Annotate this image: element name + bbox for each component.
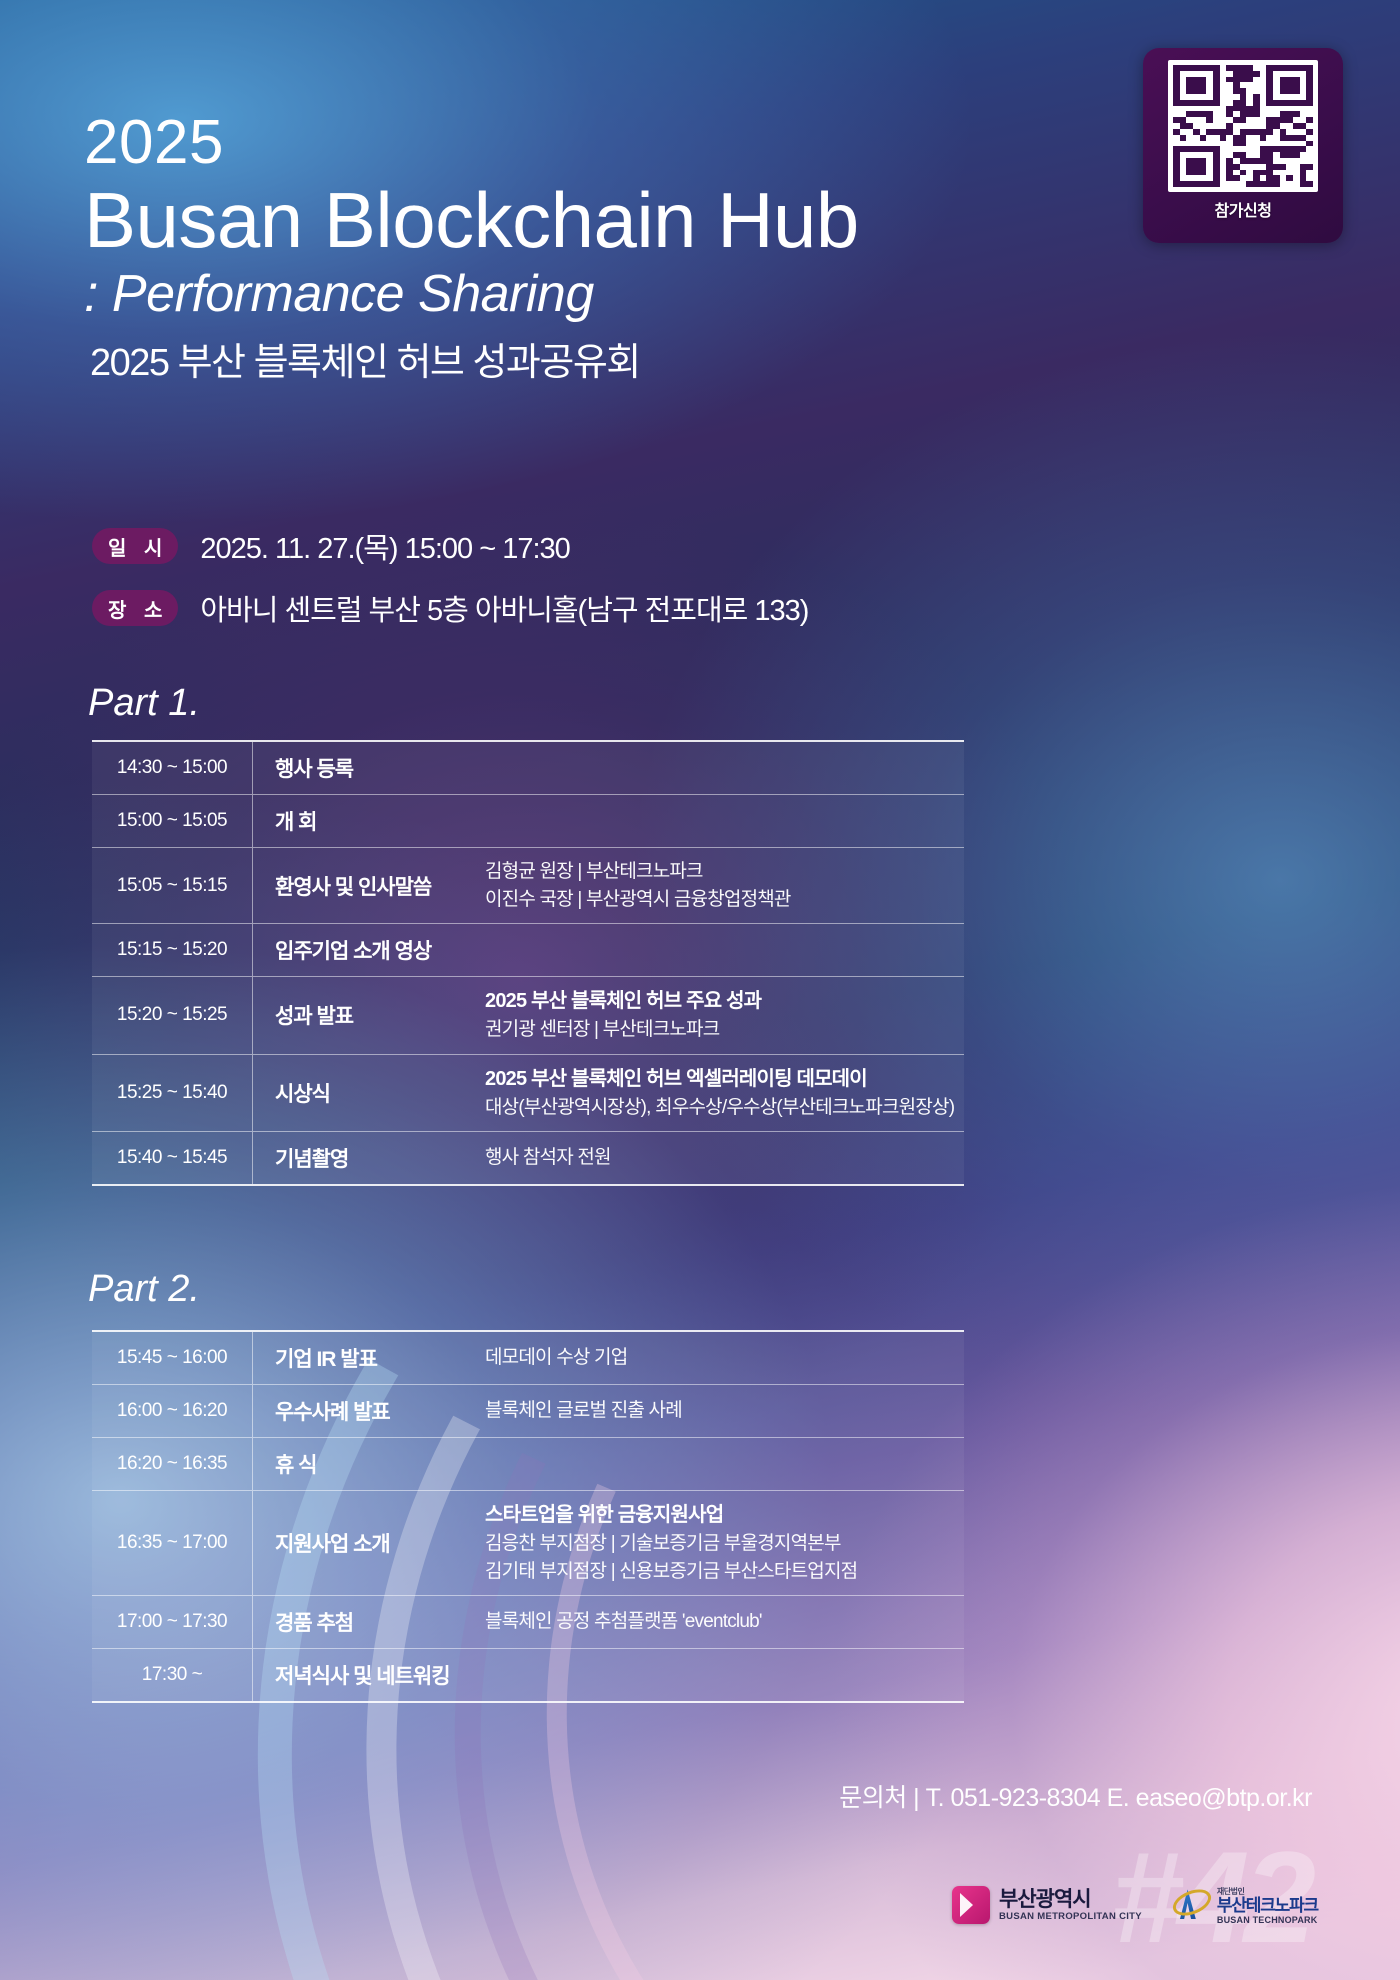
row-title: 환영사 및 인사말씀 <box>275 871 485 901</box>
row-title: 지원사업 소개 <box>275 1528 485 1558</box>
busan-city-logo: 부산광역시 BUSAN METROPOLITAN CITY <box>952 1886 1142 1924</box>
row-detail-line: 김기태 부지점장 | 신용보증기금 부산스타트업지점 <box>485 1558 964 1586</box>
table-row: 15:25 ~ 15:40시상식2025 부산 블록체인 허브 엑셀러레이팅 데… <box>92 1055 964 1133</box>
row-title: 행사 등록 <box>275 753 485 783</box>
row-detail-bold: 2025 부산 블록체인 허브 엑셀러레이팅 데모데이 <box>485 1065 964 1094</box>
row-time: 16:00 ~ 16:20 <box>92 1385 253 1437</box>
info-row-datetime: 일 시 2025. 11. 27.(목) 15:00 ~ 17:30 <box>92 525 1072 567</box>
row-detail-line: 행사 참석자 전원 <box>485 1144 964 1172</box>
row-detail-line: 대상(부산광역시장상), 최우수상/우수상(부산테크노파크원장상) <box>485 1094 964 1122</box>
row-title: 시상식 <box>275 1078 485 1108</box>
row-time: 15:05 ~ 15:15 <box>92 848 253 923</box>
page-title: Busan Blockchain Hub <box>84 180 1034 262</box>
row-title: 휴 식 <box>275 1449 485 1479</box>
row-body: 기념촬영행사 참석자 전원 <box>253 1132 964 1184</box>
row-time: 15:40 ~ 15:45 <box>92 1132 253 1184</box>
row-body: 우수사례 발표블록체인 글로벌 진출 사례 <box>253 1385 964 1437</box>
row-detail-bold: 2025 부산 블록체인 허브 주요 성과 <box>485 987 964 1016</box>
btp-name-en: BUSAN TECHNOPARK <box>1217 1915 1318 1925</box>
table-row: 15:20 ~ 15:25성과 발표2025 부산 블록체인 허브 주요 성과권… <box>92 977 964 1055</box>
row-time: 15:45 ~ 16:00 <box>92 1332 253 1384</box>
row-body: 환영사 및 인사말씀김형균 원장 | 부산테크노파크이진수 국장 | 부산광역시… <box>253 848 964 923</box>
row-detail: 김형균 원장 | 부산테크노파크이진수 국장 | 부산광역시 금융창업정책관 <box>485 858 964 913</box>
row-detail-line: 블록체인 글로벌 진출 사례 <box>485 1397 964 1425</box>
subtitle-english: : Performance Sharing <box>84 266 1034 323</box>
row-time: 15:20 ~ 15:25 <box>92 977 253 1054</box>
row-detail-line: 데모데이 수상 기업 <box>485 1344 964 1372</box>
row-body: 성과 발표2025 부산 블록체인 허브 주요 성과권기광 센터장 | 부산테크… <box>253 977 964 1054</box>
row-detail: 블록체인 공정 추첨플랫폼 'eventclub' <box>485 1608 964 1636</box>
row-detail: 2025 부산 블록체인 허브 주요 성과권기광 센터장 | 부산테크노파크 <box>485 987 964 1044</box>
schedule-table-part2: 15:45 ~ 16:00기업 IR 발표데모데이 수상 기업16:00 ~ 1… <box>92 1330 964 1703</box>
header-year: 2025 <box>84 112 1034 174</box>
row-title: 경품 추첨 <box>275 1607 485 1637</box>
row-detail-line: 이진수 국장 | 부산광역시 금융창업정책관 <box>485 886 964 914</box>
row-detail-bold: 스타트업을 위한 금융지원사업 <box>485 1501 964 1530</box>
row-body: 기업 IR 발표데모데이 수상 기업 <box>253 1332 964 1384</box>
row-title: 기업 IR 발표 <box>275 1343 485 1373</box>
row-detail: 행사 참석자 전원 <box>485 1144 964 1172</box>
row-detail-line: 블록체인 공정 추첨플랫폼 'eventclub' <box>485 1608 964 1636</box>
row-time: 14:30 ~ 15:00 <box>92 742 253 794</box>
row-body: 휴 식 <box>253 1438 964 1490</box>
row-detail: 스타트업을 위한 금융지원사업김응찬 부지점장 | 기술보증기금 부울경지역본부… <box>485 1501 964 1585</box>
row-detail: 데모데이 수상 기업 <box>485 1344 964 1372</box>
busan-technopark-logo: 재단법인 부산테크노파크 BUSAN TECHNOPARK <box>1168 1886 1318 1925</box>
part1-heading: Part 1. <box>88 682 200 725</box>
row-time: 15:15 ~ 15:20 <box>92 924 253 976</box>
table-row: 15:45 ~ 16:00기업 IR 발표데모데이 수상 기업 <box>92 1332 964 1385</box>
row-body: 행사 등록 <box>253 742 964 794</box>
row-title: 성과 발표 <box>275 1000 485 1030</box>
row-time: 16:20 ~ 16:35 <box>92 1438 253 1490</box>
row-time: 16:35 ~ 17:00 <box>92 1491 253 1595</box>
sponsor-logos: 부산광역시 BUSAN METROPOLITAN CITY 재단법인 부산테크노… <box>952 1886 1318 1925</box>
poster-header: 2025 Busan Blockchain Hub : Performance … <box>84 112 1034 387</box>
row-body: 경품 추첨블록체인 공정 추첨플랫폼 'eventclub' <box>253 1596 964 1648</box>
busan-technopark-logo-icon <box>1168 1888 1208 1922</box>
table-row: 14:30 ~ 15:00행사 등록 <box>92 742 964 795</box>
row-body: 지원사업 소개스타트업을 위한 금융지원사업김응찬 부지점장 | 기술보증기금 … <box>253 1491 964 1595</box>
row-time: 15:00 ~ 15:05 <box>92 795 253 847</box>
table-row: 15:40 ~ 15:45기념촬영행사 참석자 전원 <box>92 1132 964 1186</box>
table-row: 15:05 ~ 15:15환영사 및 인사말씀김형균 원장 | 부산테크노파크이… <box>92 848 964 924</box>
schedule-table-part1: 14:30 ~ 15:00행사 등록15:00 ~ 15:05개 회15:05 … <box>92 740 964 1186</box>
busan-city-name-en: BUSAN METROPOLITAN CITY <box>999 1911 1142 1922</box>
row-title: 개 회 <box>275 806 485 836</box>
qr-registration-panel[interactable]: 참가신청 <box>1143 48 1343 243</box>
info-chip-datetime: 일 시 <box>92 528 178 564</box>
info-text-venue: 아바니 센트럴 부산 5층 아바니홀(남구 전포대로 133) <box>200 587 808 629</box>
busan-city-logo-icon <box>952 1886 990 1924</box>
row-title: 입주기업 소개 영상 <box>275 935 485 965</box>
btp-name-ko: 부산테크노파크 <box>1217 1897 1318 1915</box>
table-row: 15:15 ~ 15:20입주기업 소개 영상 <box>92 924 964 977</box>
row-detail-line: 권기광 센터장 | 부산테크노파크 <box>485 1016 964 1044</box>
row-detail: 블록체인 글로벌 진출 사례 <box>485 1397 964 1425</box>
row-body: 시상식2025 부산 블록체인 허브 엑셀러레이팅 데모데이대상(부산광역시장상… <box>253 1055 964 1132</box>
row-body: 저녁식사 및 네트워킹 <box>253 1649 964 1701</box>
row-detail-line: 김형균 원장 | 부산테크노파크 <box>485 858 964 886</box>
row-title: 기념촬영 <box>275 1143 485 1173</box>
info-chip-venue: 장 소 <box>92 590 178 626</box>
part2-heading: Part 2. <box>88 1268 200 1311</box>
busan-city-name-ko: 부산광역시 <box>999 1889 1142 1911</box>
row-detail: 2025 부산 블록체인 허브 엑셀러레이팅 데모데이대상(부산광역시장상), … <box>485 1065 964 1122</box>
event-info-block: 일 시 2025. 11. 27.(목) 15:00 ~ 17:30 장 소 아… <box>92 525 1072 649</box>
qr-label: 참가신청 <box>1215 197 1272 221</box>
table-row: 16:00 ~ 16:20우수사례 발표블록체인 글로벌 진출 사례 <box>92 1385 964 1438</box>
table-row: 15:00 ~ 15:05개 회 <box>92 795 964 848</box>
row-title: 저녁식사 및 네트워킹 <box>275 1660 485 1690</box>
info-text-datetime: 2025. 11. 27.(목) 15:00 ~ 17:30 <box>200 525 569 567</box>
table-row: 17:00 ~ 17:30경품 추첨블록체인 공정 추첨플랫폼 'eventcl… <box>92 1596 964 1649</box>
qr-code-icon[interactable] <box>1168 60 1318 192</box>
poster-root: 참가신청 2025 Busan Blockchain Hub : Perform… <box>0 0 1400 1980</box>
row-time: 17:00 ~ 17:30 <box>92 1596 253 1648</box>
row-time: 17:30 ~ <box>92 1649 253 1701</box>
row-time: 15:25 ~ 15:40 <box>92 1055 253 1132</box>
table-row: 17:30 ~저녁식사 및 네트워킹 <box>92 1649 964 1703</box>
row-title: 우수사례 발표 <box>275 1396 485 1426</box>
info-row-venue: 장 소 아바니 센트럴 부산 5층 아바니홀(남구 전포대로 133) <box>92 587 1072 629</box>
table-row: 16:35 ~ 17:00지원사업 소개스타트업을 위한 금융지원사업김응찬 부… <box>92 1491 964 1596</box>
contact-info: 문의처 | T. 051-923-8304 E. easeo@btp.or.kr <box>839 1778 1312 1814</box>
row-detail-line: 김응찬 부지점장 | 기술보증기금 부울경지역본부 <box>485 1530 964 1558</box>
row-body: 입주기업 소개 영상 <box>253 924 964 976</box>
table-row: 16:20 ~ 16:35휴 식 <box>92 1438 964 1491</box>
row-body: 개 회 <box>253 795 964 847</box>
subtitle-korean: 2025 부산 블록체인 허브 성과공유회 <box>90 341 1034 387</box>
